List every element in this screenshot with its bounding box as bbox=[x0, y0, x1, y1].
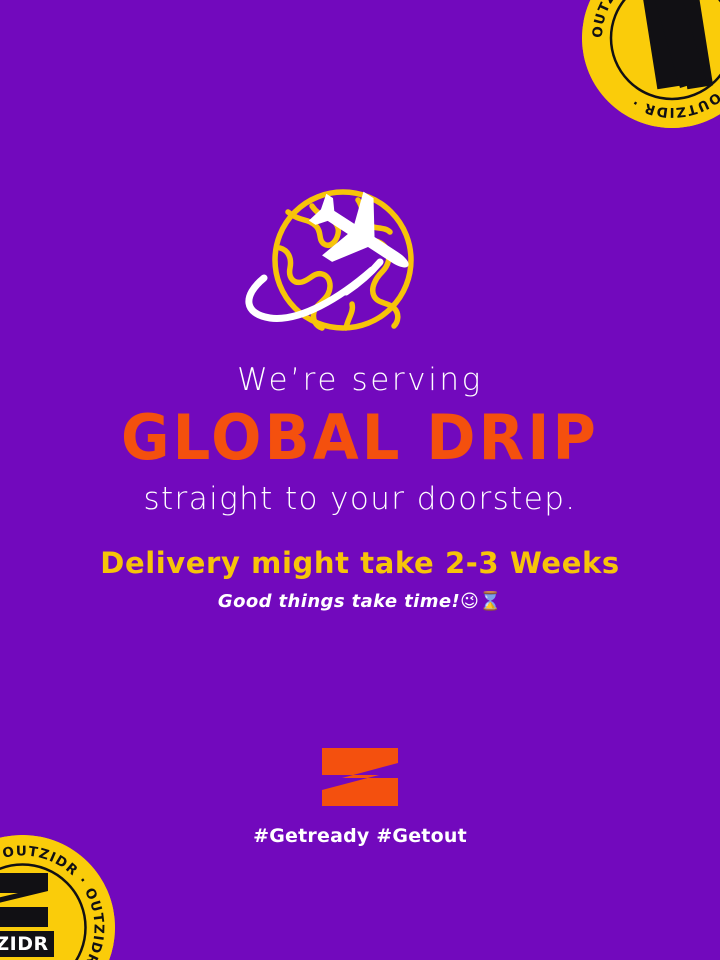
headline-line-3: straight to your doorstep. bbox=[0, 483, 720, 516]
badge-bottom-left: OUTZIDR · OUTZIDR · OUTZIDR · OUTZIDR · … bbox=[0, 835, 115, 960]
headline-block: We’re serving GLOBAL DRIP straight to yo… bbox=[0, 364, 720, 515]
hourglass-emoji: ⌛ bbox=[479, 591, 502, 612]
globe-airplane-graphic bbox=[230, 178, 490, 343]
badge-top-right-graphic: OUTZIDR · OUTZIDR · OUTZIDR · OUTZIDR · bbox=[582, 0, 720, 128]
delivery-tagline-text: Good things take time! bbox=[218, 591, 460, 612]
wink-face-emoji: 😉 bbox=[460, 591, 479, 612]
badge-bottom-left-graphic: OUTZIDR · OUTZIDR · OUTZIDR · OUTZIDR · … bbox=[0, 835, 115, 960]
badge-top-right: OUTZIDR · OUTZIDR · OUTZIDR · OUTZIDR · bbox=[582, 0, 720, 128]
globe-airplane-illustration bbox=[230, 178, 490, 343]
delivery-notice-block: Delivery might take 2-3 Weeks Good thing… bbox=[0, 548, 720, 612]
headline-line-1: We’re serving bbox=[0, 364, 720, 397]
badge-wordmark-text: OUTZIDR bbox=[0, 933, 49, 955]
footer-hashtags: #Getready #Getout bbox=[0, 825, 720, 847]
delivery-tagline: Good things take time!😉⌛ bbox=[0, 592, 720, 612]
poster-canvas: OUTZIDR · OUTZIDR · OUTZIDR · OUTZIDR · … bbox=[0, 0, 720, 960]
headline-line-2: GLOBAL DRIP bbox=[0, 407, 720, 469]
delivery-time-text: Delivery might take 2-3 Weeks bbox=[0, 548, 720, 580]
footer-block: #Getready #Getout bbox=[0, 748, 720, 847]
outzidr-z-logo bbox=[319, 748, 401, 806]
outzidr-z-logo-graphic bbox=[319, 748, 401, 806]
